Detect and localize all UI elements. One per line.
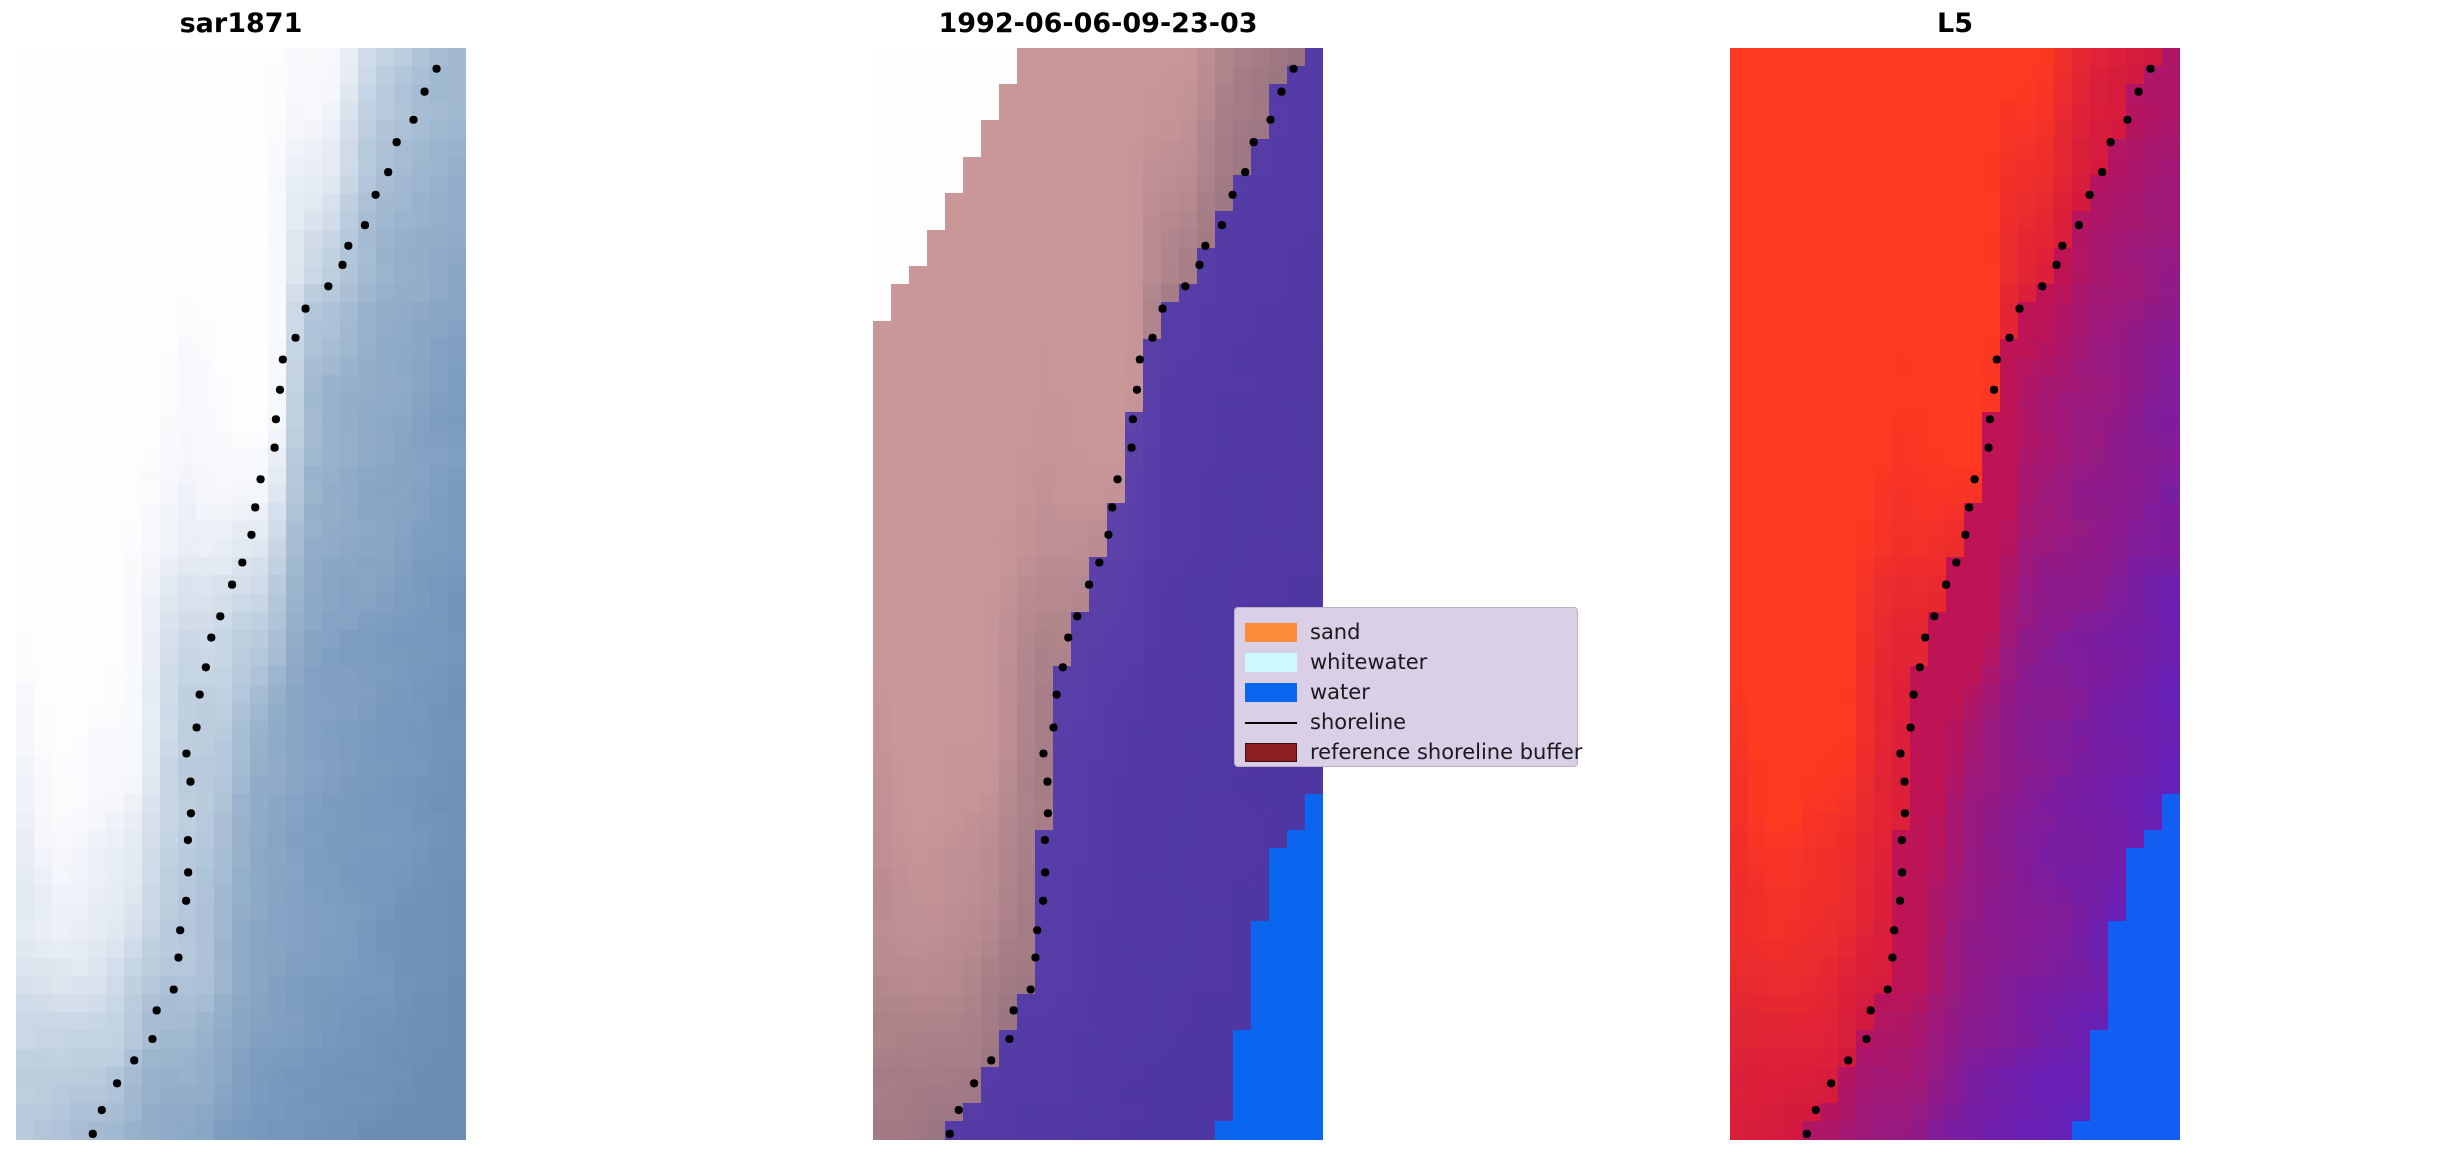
water-swatch-icon (1245, 683, 1297, 702)
panel-sar1871-image (16, 48, 466, 1140)
panel-l5-title: L5 (1730, 8, 2180, 39)
sand-swatch-icon (1245, 623, 1297, 642)
shoreline-line-icon (1245, 713, 1297, 732)
reference-shoreline-buffer-swatch-icon (1245, 743, 1297, 762)
legend-item-whitewater: whitewater (1245, 647, 1565, 677)
legend-item-sand: sand (1245, 617, 1565, 647)
panel-sar1871 (16, 48, 466, 1140)
panel-sar1871-title: sar1871 (16, 8, 466, 39)
legend: sand whitewater water shoreline referenc… (1234, 607, 1578, 767)
legend-item-shoreline: shoreline (1245, 707, 1565, 737)
whitewater-swatch-icon (1245, 653, 1297, 672)
legend-label-sand: sand (1310, 622, 1360, 643)
shoreline-line-stroke (1245, 722, 1297, 724)
panel-classified-image (873, 48, 1323, 1140)
legend-item-water: water (1245, 677, 1565, 707)
legend-label-whitewater: whitewater (1310, 652, 1427, 673)
panel-classified-image-canvas (873, 48, 1323, 1140)
panel-l5 (1730, 48, 2180, 1140)
legend-label-shoreline: shoreline (1310, 712, 1406, 733)
panel-l5-image (1730, 48, 2180, 1140)
legend-label-water: water (1310, 682, 1370, 703)
legend-label-reference-shoreline-buffer: reference shoreline buffer (1310, 742, 1582, 763)
figure-canvas: sar1871 1992-06-06-09-23-03 L5 sand whit… (0, 0, 2460, 1157)
panel-classified-title: 1992-06-06-09-23-03 (873, 8, 1323, 39)
legend-item-reference-shoreline-buffer: reference shoreline buffer (1245, 737, 1565, 767)
